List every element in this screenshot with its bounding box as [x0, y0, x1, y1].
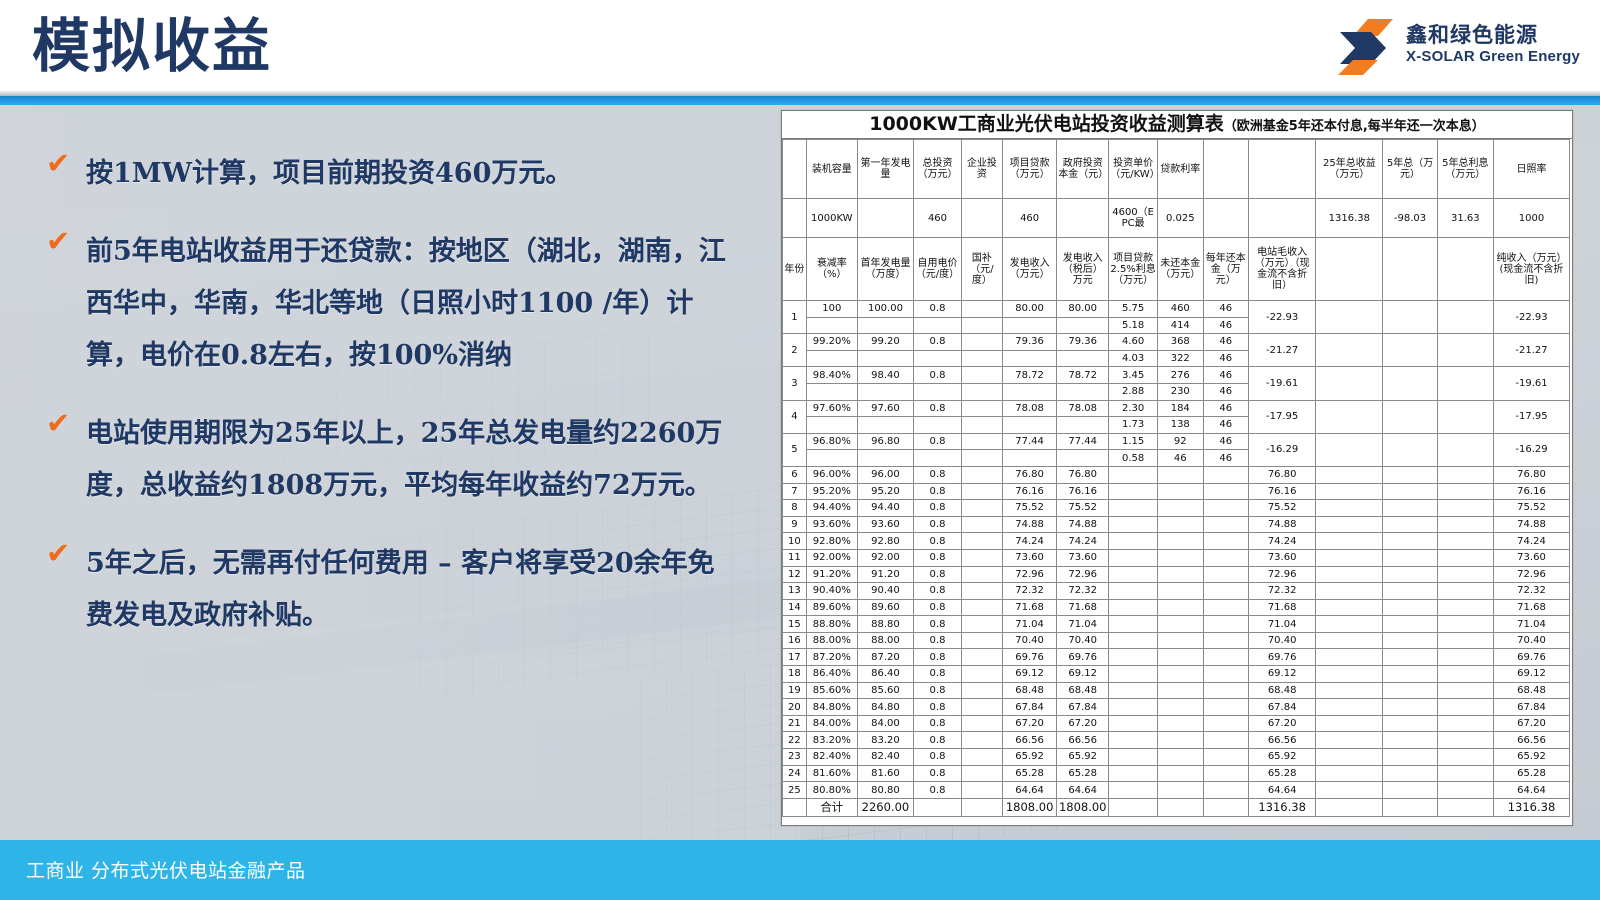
cell-decay: 100	[806, 301, 857, 318]
cell-interest	[1109, 682, 1158, 699]
cell-revenue-tax: 65.92	[1057, 749, 1109, 766]
sum-first-year-output	[857, 199, 913, 238]
investment-return-table: 1000KW工商业光伏电站投资收益测算表（欧洲基金5年还本付息,每半年还一次本息…	[781, 110, 1573, 826]
cell-blank-3	[1437, 616, 1493, 633]
cell-net: 64.64	[1493, 782, 1569, 799]
cell-price: 0.8	[914, 500, 962, 517]
cell-principal-left	[1158, 599, 1204, 616]
cell-output: 96.80	[857, 433, 913, 450]
cell-revenue-tax-sub	[1057, 317, 1109, 334]
cell-decay: 84.00%	[806, 715, 857, 732]
cell-blank-3	[1437, 599, 1493, 616]
cell-output: 92.00	[857, 549, 913, 566]
cell-decay: 95.20%	[806, 483, 857, 500]
cell-price: 0.8	[914, 549, 962, 566]
cell-repay	[1203, 500, 1249, 517]
cell-output: 82.40	[857, 749, 913, 766]
th-blank	[783, 140, 807, 199]
cell-blank-1	[1316, 334, 1383, 367]
cell-gross: 70.40	[1249, 632, 1316, 649]
cell-blank-3	[1437, 632, 1493, 649]
cell-blank-1	[1316, 533, 1383, 550]
cell-revenue: 76.80	[1003, 466, 1057, 483]
cell-principal-left	[1158, 732, 1204, 749]
cell-price-sub	[914, 417, 962, 434]
cell-revenue-sub	[1003, 350, 1057, 367]
th-5y-total: 5年总（万元）	[1383, 140, 1437, 199]
logo-name-en: X-SOLAR Green Energy	[1406, 48, 1580, 65]
cell-decay: 87.20%	[806, 649, 857, 666]
cell-revenue: 76.16	[1003, 483, 1057, 500]
cell-subsidy	[961, 765, 1002, 782]
cell-subsidy	[961, 749, 1002, 766]
cell-blank-1	[1316, 367, 1383, 400]
cell-repay-sub: 46	[1203, 317, 1249, 334]
cell-net: -16.29	[1493, 433, 1569, 466]
table-title: 1000KW工商业光伏电站投资收益测算表（欧洲基金5年还本付息,每半年还一次本息…	[782, 111, 1572, 139]
cell-blank-1	[1316, 616, 1383, 633]
cell-principal-left: 368	[1158, 334, 1204, 351]
cell-year: 15	[783, 616, 807, 633]
cell-revenue-tax: 76.16	[1057, 483, 1109, 500]
cell-blank-2	[1383, 533, 1437, 550]
th-gov-capital: 政府投资本金（元）	[1057, 140, 1109, 199]
cell-blank-3	[1437, 301, 1493, 334]
cell-blank-2	[1383, 500, 1437, 517]
cell-revenue: 69.12	[1003, 666, 1057, 683]
sum-gov-capital	[1057, 199, 1109, 238]
cell-net: 69.12	[1493, 666, 1569, 683]
cell-principal-left-sub: 322	[1158, 350, 1204, 367]
cell-blank-3	[1437, 516, 1493, 533]
check-icon: ✔	[46, 540, 70, 569]
cell-decay: 82.40%	[806, 749, 857, 766]
cell-net: 72.32	[1493, 583, 1569, 600]
cell-total-year	[783, 798, 807, 816]
cell-blank-2	[1383, 599, 1437, 616]
cell-output: 83.20	[857, 732, 913, 749]
cell-price-sub	[914, 317, 962, 334]
logo-name-cn: 鑫和绿色能源	[1406, 19, 1538, 49]
cell-repay-sub: 46	[1203, 350, 1249, 367]
cell-year: 4	[783, 400, 807, 433]
table-row: 299.20%99.200.879.3679.364.6036846-21.27…	[783, 334, 1570, 351]
cell-gross: -17.95	[1249, 400, 1316, 433]
cell-gross: 69.12	[1249, 666, 1316, 683]
cell-repay	[1203, 466, 1249, 483]
cell-year: 14	[783, 599, 807, 616]
cell-revenue: 71.04	[1003, 616, 1057, 633]
cell-output: 88.80	[857, 616, 913, 633]
cell-repay: 46	[1203, 334, 1249, 351]
cell-decay: 93.60%	[806, 516, 857, 533]
cell-decay: 97.60%	[806, 400, 857, 417]
table-row: 2283.20%83.200.866.5666.5666.5666.56	[783, 732, 1570, 749]
cell-principal-left-sub: 138	[1158, 417, 1204, 434]
th-blank-2	[1203, 140, 1249, 199]
cell-net: 67.20	[1493, 715, 1569, 732]
table-row: 1688.00%88.000.870.4070.4070.4070.40	[783, 632, 1570, 649]
cell-gross: -19.61	[1249, 367, 1316, 400]
cell-price: 0.8	[914, 400, 962, 417]
cell-interest	[1109, 566, 1158, 583]
col-power-revenue-after-tax: 发电收入（税后）万元	[1057, 238, 1109, 301]
cell-repay	[1203, 715, 1249, 732]
cell-blank-1	[1316, 466, 1383, 483]
cell-principal-left: 184	[1158, 400, 1204, 417]
cell-interest	[1109, 583, 1158, 600]
col-decay-rate: 衰减率（%）	[806, 238, 857, 301]
cell-subsidy	[961, 782, 1002, 799]
cell-interest	[1109, 483, 1158, 500]
cell-principal-left	[1158, 632, 1204, 649]
sum-loan-rate: 0.025	[1158, 199, 1204, 238]
footer-text: 工商业 分布式光伏电站金融产品	[26, 856, 306, 883]
cell-blank-2	[1383, 616, 1437, 633]
cell-output: 81.60	[857, 765, 913, 782]
cell-interest	[1109, 649, 1158, 666]
cell-repay-sub: 46	[1203, 383, 1249, 400]
cell-revenue-tax: 71.04	[1057, 616, 1109, 633]
cell-year: 18	[783, 666, 807, 683]
cell-revenue-tax: 68.48	[1057, 682, 1109, 699]
cell-revenue-tax: 69.12	[1057, 666, 1109, 683]
cell-year: 2	[783, 334, 807, 367]
cell-revenue-tax: 65.28	[1057, 765, 1109, 782]
cell-blank-1	[1316, 782, 1383, 799]
cell-blank-2	[1383, 566, 1437, 583]
cell-blank-2	[1383, 666, 1437, 683]
cell-blank-2	[1383, 549, 1437, 566]
cell-gross: 67.20	[1249, 715, 1316, 732]
cell-repay: 46	[1203, 367, 1249, 384]
cell-subsidy	[961, 334, 1002, 351]
cell-principal-left: 460	[1158, 301, 1204, 318]
cell-revenue-tax: 78.72	[1057, 367, 1109, 384]
table-row: 596.80%96.800.877.4477.441.159246-16.29-…	[783, 433, 1570, 450]
cell-net: -21.27	[1493, 334, 1569, 367]
col-first-year-output: 首年发电量（万度）	[857, 238, 913, 301]
cell-repay: 46	[1203, 433, 1249, 450]
cell-repay	[1203, 666, 1249, 683]
cell-revenue-tax: 78.08	[1057, 400, 1109, 417]
cell-output: 88.00	[857, 632, 913, 649]
cell-interest	[1109, 782, 1158, 799]
cell-decay-sub	[806, 383, 857, 400]
cell-output: 93.60	[857, 516, 913, 533]
cell-decay: 92.80%	[806, 533, 857, 550]
cell-price: 0.8	[914, 566, 962, 583]
cell-blank-3	[1437, 566, 1493, 583]
cell-total-output: 2260.00	[857, 798, 913, 816]
cell-output: 84.80	[857, 699, 913, 716]
cell-price: 0.8	[914, 782, 962, 799]
cell-total-subsidy	[961, 798, 1002, 816]
cell-net: -22.93	[1493, 301, 1569, 334]
cell-interest	[1109, 599, 1158, 616]
cell-interest	[1109, 699, 1158, 716]
cell-interest	[1109, 632, 1158, 649]
cell-blank-1	[1316, 765, 1383, 782]
cell-principal-left	[1158, 549, 1204, 566]
cell-decay: 83.20%	[806, 732, 857, 749]
cell-blank-1	[1316, 666, 1383, 683]
cell-blank-3	[1437, 782, 1493, 799]
cell-subsidy	[961, 533, 1002, 550]
cell-year: 10	[783, 533, 807, 550]
cell-blank-1	[1316, 599, 1383, 616]
cell-interest	[1109, 732, 1158, 749]
cell-blank-2	[1383, 466, 1437, 483]
col-outstanding-principal: 未还本金（万元）	[1158, 238, 1204, 301]
cell-blank-3	[1437, 483, 1493, 500]
cell-price-sub	[914, 350, 962, 367]
bullet-text: 按1MW计算，项目前期投资460万元。	[46, 148, 736, 200]
cell-revenue: 66.56	[1003, 732, 1057, 749]
cell-revenue: 68.48	[1003, 682, 1057, 699]
cell-revenue-tax: 67.20	[1057, 715, 1109, 732]
table-simple-rows: 696.00%96.000.876.8076.8076.8076.80795.2…	[783, 466, 1570, 798]
cell-revenue-sub	[1003, 317, 1057, 334]
cell-blank-2	[1383, 682, 1437, 699]
cell-blank-1	[1316, 682, 1383, 699]
col-annual-principal-repay: 每年还本金（万元）	[1203, 238, 1249, 301]
cell-net: 74.88	[1493, 516, 1569, 533]
sum-unit-price: 4600（EPC最	[1109, 199, 1158, 238]
cell-output: 86.40	[857, 666, 913, 683]
table-row: 1489.60%89.600.871.6871.6871.6871.68	[783, 599, 1570, 616]
cell-revenue-tax: 72.32	[1057, 583, 1109, 600]
cell-principal-left	[1158, 583, 1204, 600]
slide: 模拟收益 鑫和绿色能源 X-SOLAR Green Energy ✔ 按1MW计…	[0, 0, 1600, 900]
cell-gross: 76.80	[1249, 466, 1316, 483]
cell-subsidy	[961, 616, 1002, 633]
cell-output: 94.40	[857, 500, 913, 517]
cell-blank-3	[1437, 533, 1493, 550]
cell-output-sub	[857, 450, 913, 467]
cell-principal-left	[1158, 715, 1204, 732]
cell-revenue-tax: 69.76	[1057, 649, 1109, 666]
bullet-text: 电站使用期限为25年以上，25年总发电量约2260万度，总收益约1808万元，平…	[46, 408, 736, 512]
cell-blank-3	[1437, 583, 1493, 600]
cell-revenue-tax: 64.64	[1057, 782, 1109, 799]
sum-capacity: 1000KW	[806, 199, 857, 238]
cell-principal-left: 92	[1158, 433, 1204, 450]
cell-blank-3	[1437, 682, 1493, 699]
cell-blank-3	[1437, 400, 1493, 433]
cell-gross: 67.84	[1249, 699, 1316, 716]
cell-blank-3	[1437, 749, 1493, 766]
cell-repay	[1203, 699, 1249, 716]
cell-net: 75.52	[1493, 500, 1569, 517]
cell-year: 3	[783, 367, 807, 400]
table-row: 2084.80%84.800.867.8467.8467.8467.84	[783, 699, 1570, 716]
cell-gross: 65.28	[1249, 765, 1316, 782]
cell-gross: 72.32	[1249, 583, 1316, 600]
table-grid: 装机容量 第一年发电量 总投资（万元） 企业投资 项目贷款（万元） 政府投资本金…	[782, 139, 1570, 817]
cell-principal-left	[1158, 483, 1204, 500]
cell-decay: 96.80%	[806, 433, 857, 450]
cell-year: 20	[783, 699, 807, 716]
cell-revenue-tax: 75.52	[1057, 500, 1109, 517]
cell-blank-3	[1437, 433, 1493, 466]
cell-net: 73.60	[1493, 549, 1569, 566]
cell-revenue: 74.24	[1003, 533, 1057, 550]
th-total-investment: 总投资（万元）	[914, 140, 962, 199]
cell-net: 76.16	[1493, 483, 1569, 500]
cell-revenue: 72.96	[1003, 566, 1057, 583]
cell-subsidy-sub	[961, 350, 1002, 367]
cell-revenue-tax: 72.96	[1057, 566, 1109, 583]
cell-price: 0.8	[914, 666, 962, 683]
th-blank-3	[1249, 140, 1316, 199]
cell-principal-left	[1158, 516, 1204, 533]
cell-repay	[1203, 549, 1249, 566]
cell-output: 100.00	[857, 301, 913, 318]
cell-subsidy	[961, 367, 1002, 384]
table-row: 1787.20%87.200.869.7669.7669.7669.76	[783, 649, 1570, 666]
cell-subsidy-sub	[961, 417, 1002, 434]
cell-repay: 46	[1203, 301, 1249, 318]
cell-blank-1	[1316, 632, 1383, 649]
cell-total-net: 1316.38	[1493, 798, 1569, 816]
cell-blank-1	[1316, 483, 1383, 500]
cell-blank-1	[1316, 715, 1383, 732]
cell-output: 95.20	[857, 483, 913, 500]
cell-revenue-tax: 67.84	[1057, 699, 1109, 716]
cell-subsidy	[961, 682, 1002, 699]
cell-interest	[1109, 500, 1158, 517]
cell-output-sub	[857, 383, 913, 400]
cell-revenue-tax: 79.36	[1057, 334, 1109, 351]
cell-revenue-tax: 71.68	[1057, 599, 1109, 616]
cell-gross: 75.52	[1249, 500, 1316, 517]
cell-year: 21	[783, 715, 807, 732]
cell-repay	[1203, 483, 1249, 500]
cell-repay	[1203, 632, 1249, 649]
list-item: ✔ 5年之后，无需再付任何费用 – 客户将享受20余年免费发电及政府补贴。	[46, 538, 736, 642]
cell-interest-sub: 2.88	[1109, 383, 1158, 400]
cell-blank-2	[1383, 632, 1437, 649]
cell-revenue: 65.92	[1003, 749, 1057, 766]
cell-repay	[1203, 732, 1249, 749]
cell-gross: -22.93	[1249, 301, 1316, 334]
table-row: 2184.00%84.000.867.2067.2067.2067.20	[783, 715, 1570, 732]
table-title-main: 1000KW工商业光伏电站投资收益测算表	[869, 113, 1224, 135]
cell-principal-left-sub: 46	[1158, 450, 1204, 467]
cell-repay	[1203, 682, 1249, 699]
cell-revenue-tax: 74.24	[1057, 533, 1109, 550]
cell-price: 0.8	[914, 616, 962, 633]
cell-repay-sub: 46	[1203, 417, 1249, 434]
th-sunlight-rate: 日照率	[1493, 140, 1569, 199]
cell-decay: 81.60%	[806, 765, 857, 782]
sum-25y-total-revenue: 1316.38	[1316, 199, 1383, 238]
cell-interest-sub: 0.58	[1109, 450, 1158, 467]
cell-blank-1	[1316, 649, 1383, 666]
cell-output: 80.80	[857, 782, 913, 799]
cell-blank-2	[1383, 583, 1437, 600]
col-blank-2	[1383, 238, 1437, 301]
cell-gross: 69.76	[1249, 649, 1316, 666]
table-title-note: （欧洲基金5年还本付息,每半年还一次本息）	[1224, 119, 1485, 134]
cell-blank-3	[1437, 334, 1493, 367]
cell-gross: 65.92	[1249, 749, 1316, 766]
cell-blank-1	[1316, 749, 1383, 766]
table-row: 1985.60%85.600.868.4868.4868.4868.48	[783, 682, 1570, 699]
cell-revenue: 75.52	[1003, 500, 1057, 517]
cell-revenue-sub	[1003, 450, 1057, 467]
cell-decay: 94.40%	[806, 500, 857, 517]
cell-net: -19.61	[1493, 367, 1569, 400]
cell-revenue-sub	[1003, 417, 1057, 434]
cell-year: 19	[783, 682, 807, 699]
cell-revenue-tax-sub	[1057, 350, 1109, 367]
th-capacity: 装机容量	[806, 140, 857, 199]
table-row: 696.00%96.000.876.8076.8076.8076.80	[783, 466, 1570, 483]
sum-enterprise-investment	[961, 199, 1002, 238]
cell-decay: 96.00%	[806, 466, 857, 483]
cell-principal-left	[1158, 616, 1204, 633]
table-row: 894.40%94.400.875.5275.5275.5275.52	[783, 500, 1570, 517]
cell-blank-2	[1383, 516, 1437, 533]
cell-decay-sub	[806, 417, 857, 434]
cell-revenue: 74.88	[1003, 516, 1057, 533]
cell-subsidy	[961, 732, 1002, 749]
cell-repay	[1203, 566, 1249, 583]
table-row: 1092.80%92.800.874.2474.2474.2474.24	[783, 533, 1570, 550]
table-row: 1291.20%91.200.872.9672.9672.9672.96	[783, 566, 1570, 583]
cell-price: 0.8	[914, 533, 962, 550]
cell-interest	[1109, 666, 1158, 683]
cell-price: 0.8	[914, 632, 962, 649]
cell-price: 0.8	[914, 732, 962, 749]
cell-total-revenue-tax: 1808.00	[1057, 798, 1109, 816]
sum-blank	[783, 199, 807, 238]
cell-total-gross: 1316.38	[1249, 798, 1316, 816]
cell-subsidy	[961, 516, 1002, 533]
cell-net: 65.28	[1493, 765, 1569, 782]
cell-price: 0.8	[914, 516, 962, 533]
cell-subsidy-sub	[961, 450, 1002, 467]
list-item: ✔ 前5年电站收益用于还贷款：按地区（湖北，湖南，江西华中，华南，华北等地（日照…	[46, 226, 736, 382]
cell-blank-3	[1437, 649, 1493, 666]
table-body: 装机容量 第一年发电量 总投资（万元） 企业投资 项目贷款（万元） 政府投资本金…	[783, 140, 1570, 301]
th-25y-total-revenue: 25年总收益（万元）	[1316, 140, 1383, 199]
cell-revenue-tax: 73.60	[1057, 549, 1109, 566]
cell-gross: 74.24	[1249, 533, 1316, 550]
cell-net: 66.56	[1493, 732, 1569, 749]
cell-output: 97.60	[857, 400, 913, 417]
cell-output: 85.60	[857, 682, 913, 699]
page-title: 模拟收益	[32, 6, 272, 86]
cell-blank-2	[1383, 782, 1437, 799]
cell-principal-left	[1158, 466, 1204, 483]
th-unit-price: 投资单价（元/KW）	[1109, 140, 1158, 199]
cell-price: 0.8	[914, 334, 962, 351]
cell-output: 91.20	[857, 566, 913, 583]
cell-net: 68.48	[1493, 682, 1569, 699]
cell-blank-1	[1316, 583, 1383, 600]
cell-revenue: 78.08	[1003, 400, 1057, 417]
cell-gross: 73.60	[1249, 549, 1316, 566]
col-net-income: 纯收入（万元）(现金流不含折旧)	[1493, 238, 1569, 301]
cell-blank-3	[1437, 765, 1493, 782]
cell-total-revenue: 1808.00	[1003, 798, 1057, 816]
cell-repay-sub: 46	[1203, 450, 1249, 467]
cell-repay	[1203, 583, 1249, 600]
cell-decay-sub	[806, 317, 857, 334]
